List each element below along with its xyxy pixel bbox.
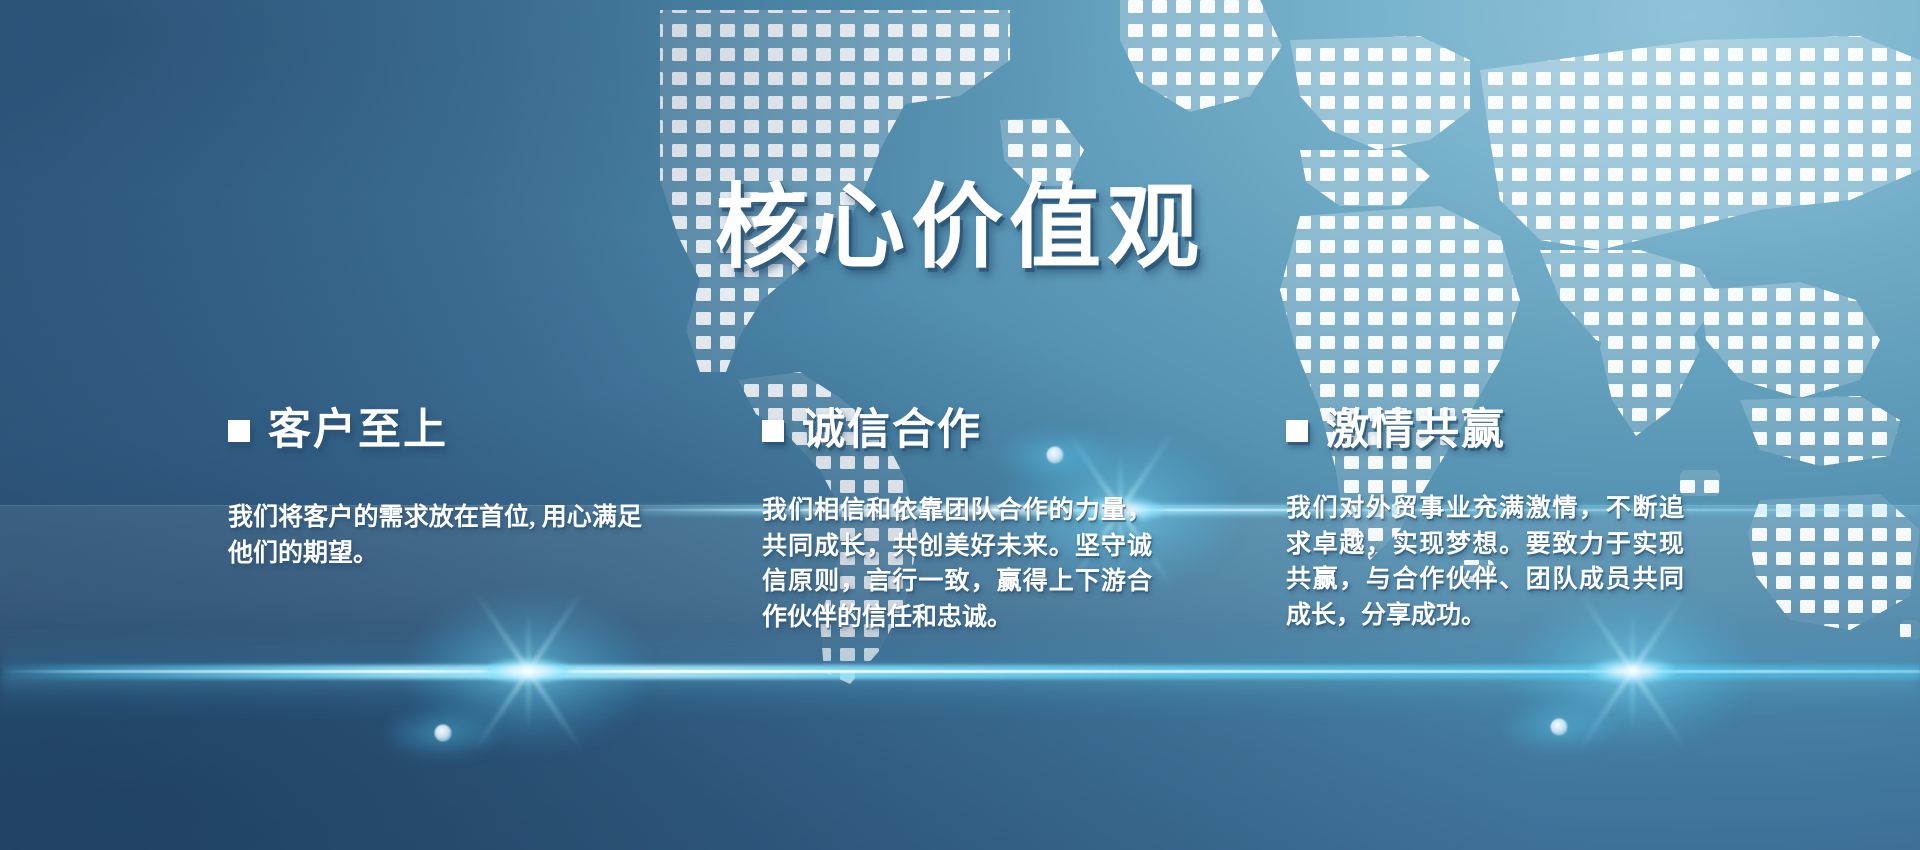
- value-column-passion-winwin: 激情共赢 我们对外贸事业充满激情，不断追求卓越，实现梦想。要致力于实现共赢，与合…: [1286, 408, 1706, 633]
- value-description: 我们相信和依靠团队合作的力量，共同成长，共创美好未来。坚守诚信原则，言行一致，赢…: [762, 493, 1152, 635]
- value-heading-row: 客户至上: [228, 408, 658, 453]
- value-column-customer-first: 客户至上 我们将客户的需求放在首位, 用心满足他们的期望。: [228, 408, 658, 571]
- page-title: 核心价值观: [0, 182, 1920, 274]
- value-heading: 客户至上: [268, 408, 448, 453]
- square-bullet-icon: [228, 420, 250, 442]
- value-heading: 诚信合作: [802, 408, 982, 453]
- value-description: 我们将客户的需求放在首位, 用心满足他们的期望。: [228, 500, 642, 571]
- value-heading-row: 激情共赢: [1286, 408, 1706, 453]
- value-heading-row: 诚信合作: [762, 408, 1182, 453]
- value-column-integrity-cooperation: 诚信合作 我们相信和依靠团队合作的力量，共同成长，共创美好未来。坚守诚信原则，言…: [762, 408, 1182, 635]
- core-values-banner: 核心价值观 客户至上 我们将客户的需求放在首位, 用心满足他们的期望。 诚信合作…: [0, 0, 1920, 850]
- value-description: 我们对外贸事业充满激情，不断追求卓越，实现梦想。要致力于实现共赢，与合作伙伴、团…: [1286, 491, 1684, 633]
- square-bullet-icon: [1286, 420, 1308, 442]
- value-heading: 激情共赢: [1326, 408, 1506, 453]
- banner-content: 核心价值观 客户至上 我们将客户的需求放在首位, 用心满足他们的期望。 诚信合作…: [0, 0, 1920, 850]
- square-bullet-icon: [762, 420, 784, 442]
